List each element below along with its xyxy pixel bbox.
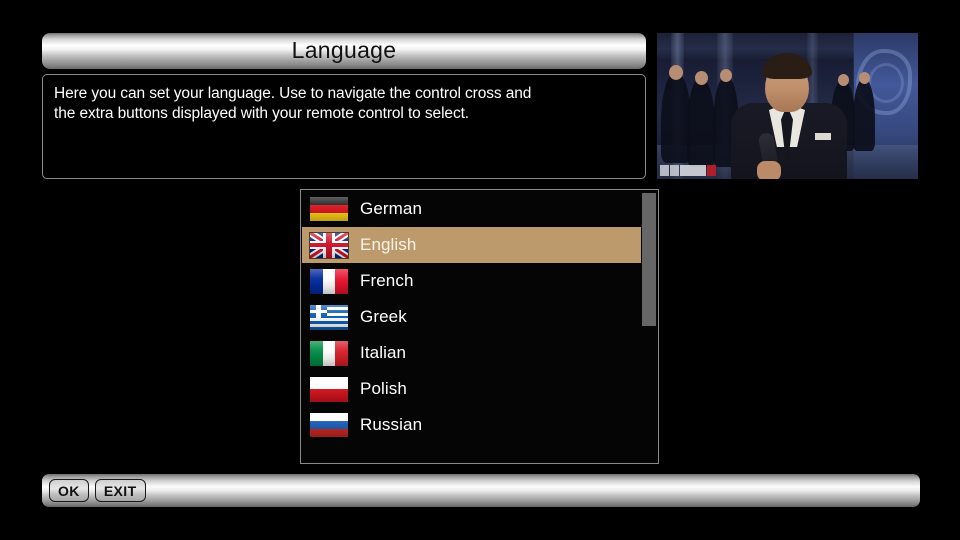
- channel-logo-bug: [660, 165, 716, 176]
- language-list: German English French: [302, 191, 642, 443]
- crowd-figure: [687, 79, 715, 167]
- crowd-figure-head: [720, 69, 732, 82]
- language-list-panel[interactable]: German English French: [300, 189, 659, 464]
- list-item-label: French: [360, 271, 414, 291]
- crowd-figure-head: [669, 65, 683, 80]
- list-item[interactable]: Polish: [302, 371, 642, 407]
- video-preview[interactable]: [657, 33, 918, 179]
- list-item-label: German: [360, 199, 422, 219]
- flag-pl-icon: [310, 377, 348, 402]
- reporter-pocket-square: [815, 133, 831, 140]
- list-item[interactable]: Italian: [302, 335, 642, 371]
- list-scrollbar[interactable]: [641, 191, 657, 464]
- list-item-label: Greek: [360, 307, 407, 327]
- list-item[interactable]: English: [302, 227, 642, 263]
- list-item-label: English: [360, 235, 416, 255]
- scrollbar-thumb[interactable]: [642, 193, 656, 326]
- flag-ru-icon: [310, 413, 348, 438]
- flag-gb-icon: [310, 233, 348, 258]
- crowd-figure-head: [695, 71, 708, 85]
- list-item[interactable]: Russian: [302, 407, 642, 443]
- exit-button[interactable]: EXIT: [95, 479, 146, 502]
- list-item[interactable]: German: [302, 191, 642, 227]
- list-item-label: Polish: [360, 379, 407, 399]
- tv-osd-screen: Language Here you can set your language.…: [0, 0, 960, 540]
- video-frame: [657, 33, 918, 179]
- description-text: Here you can set your language. Use to n…: [54, 84, 634, 124]
- ok-button-label: OK: [58, 483, 80, 499]
- footer-bar: OK EXIT: [42, 474, 920, 507]
- menu-title-bar: Language: [42, 33, 646, 69]
- crowd-figure: [853, 79, 875, 151]
- crowd-figure-head: [838, 74, 849, 86]
- crowd-figure-head: [859, 72, 870, 84]
- flag-de-icon: [310, 197, 348, 222]
- page-title: Language: [292, 39, 397, 64]
- ok-button[interactable]: OK: [49, 479, 89, 502]
- flag-gr-icon: [310, 305, 348, 330]
- list-item-label: Italian: [360, 343, 406, 363]
- flag-fr-icon: [310, 269, 348, 294]
- list-item[interactable]: French: [302, 263, 642, 299]
- list-item-label: Russian: [360, 415, 422, 435]
- exit-button-label: EXIT: [104, 483, 137, 499]
- flag-it-icon: [310, 341, 348, 366]
- reporter-hand: [757, 161, 781, 179]
- description-panel: Here you can set your language. Use to n…: [42, 74, 646, 179]
- list-item[interactable]: Greek: [302, 299, 642, 335]
